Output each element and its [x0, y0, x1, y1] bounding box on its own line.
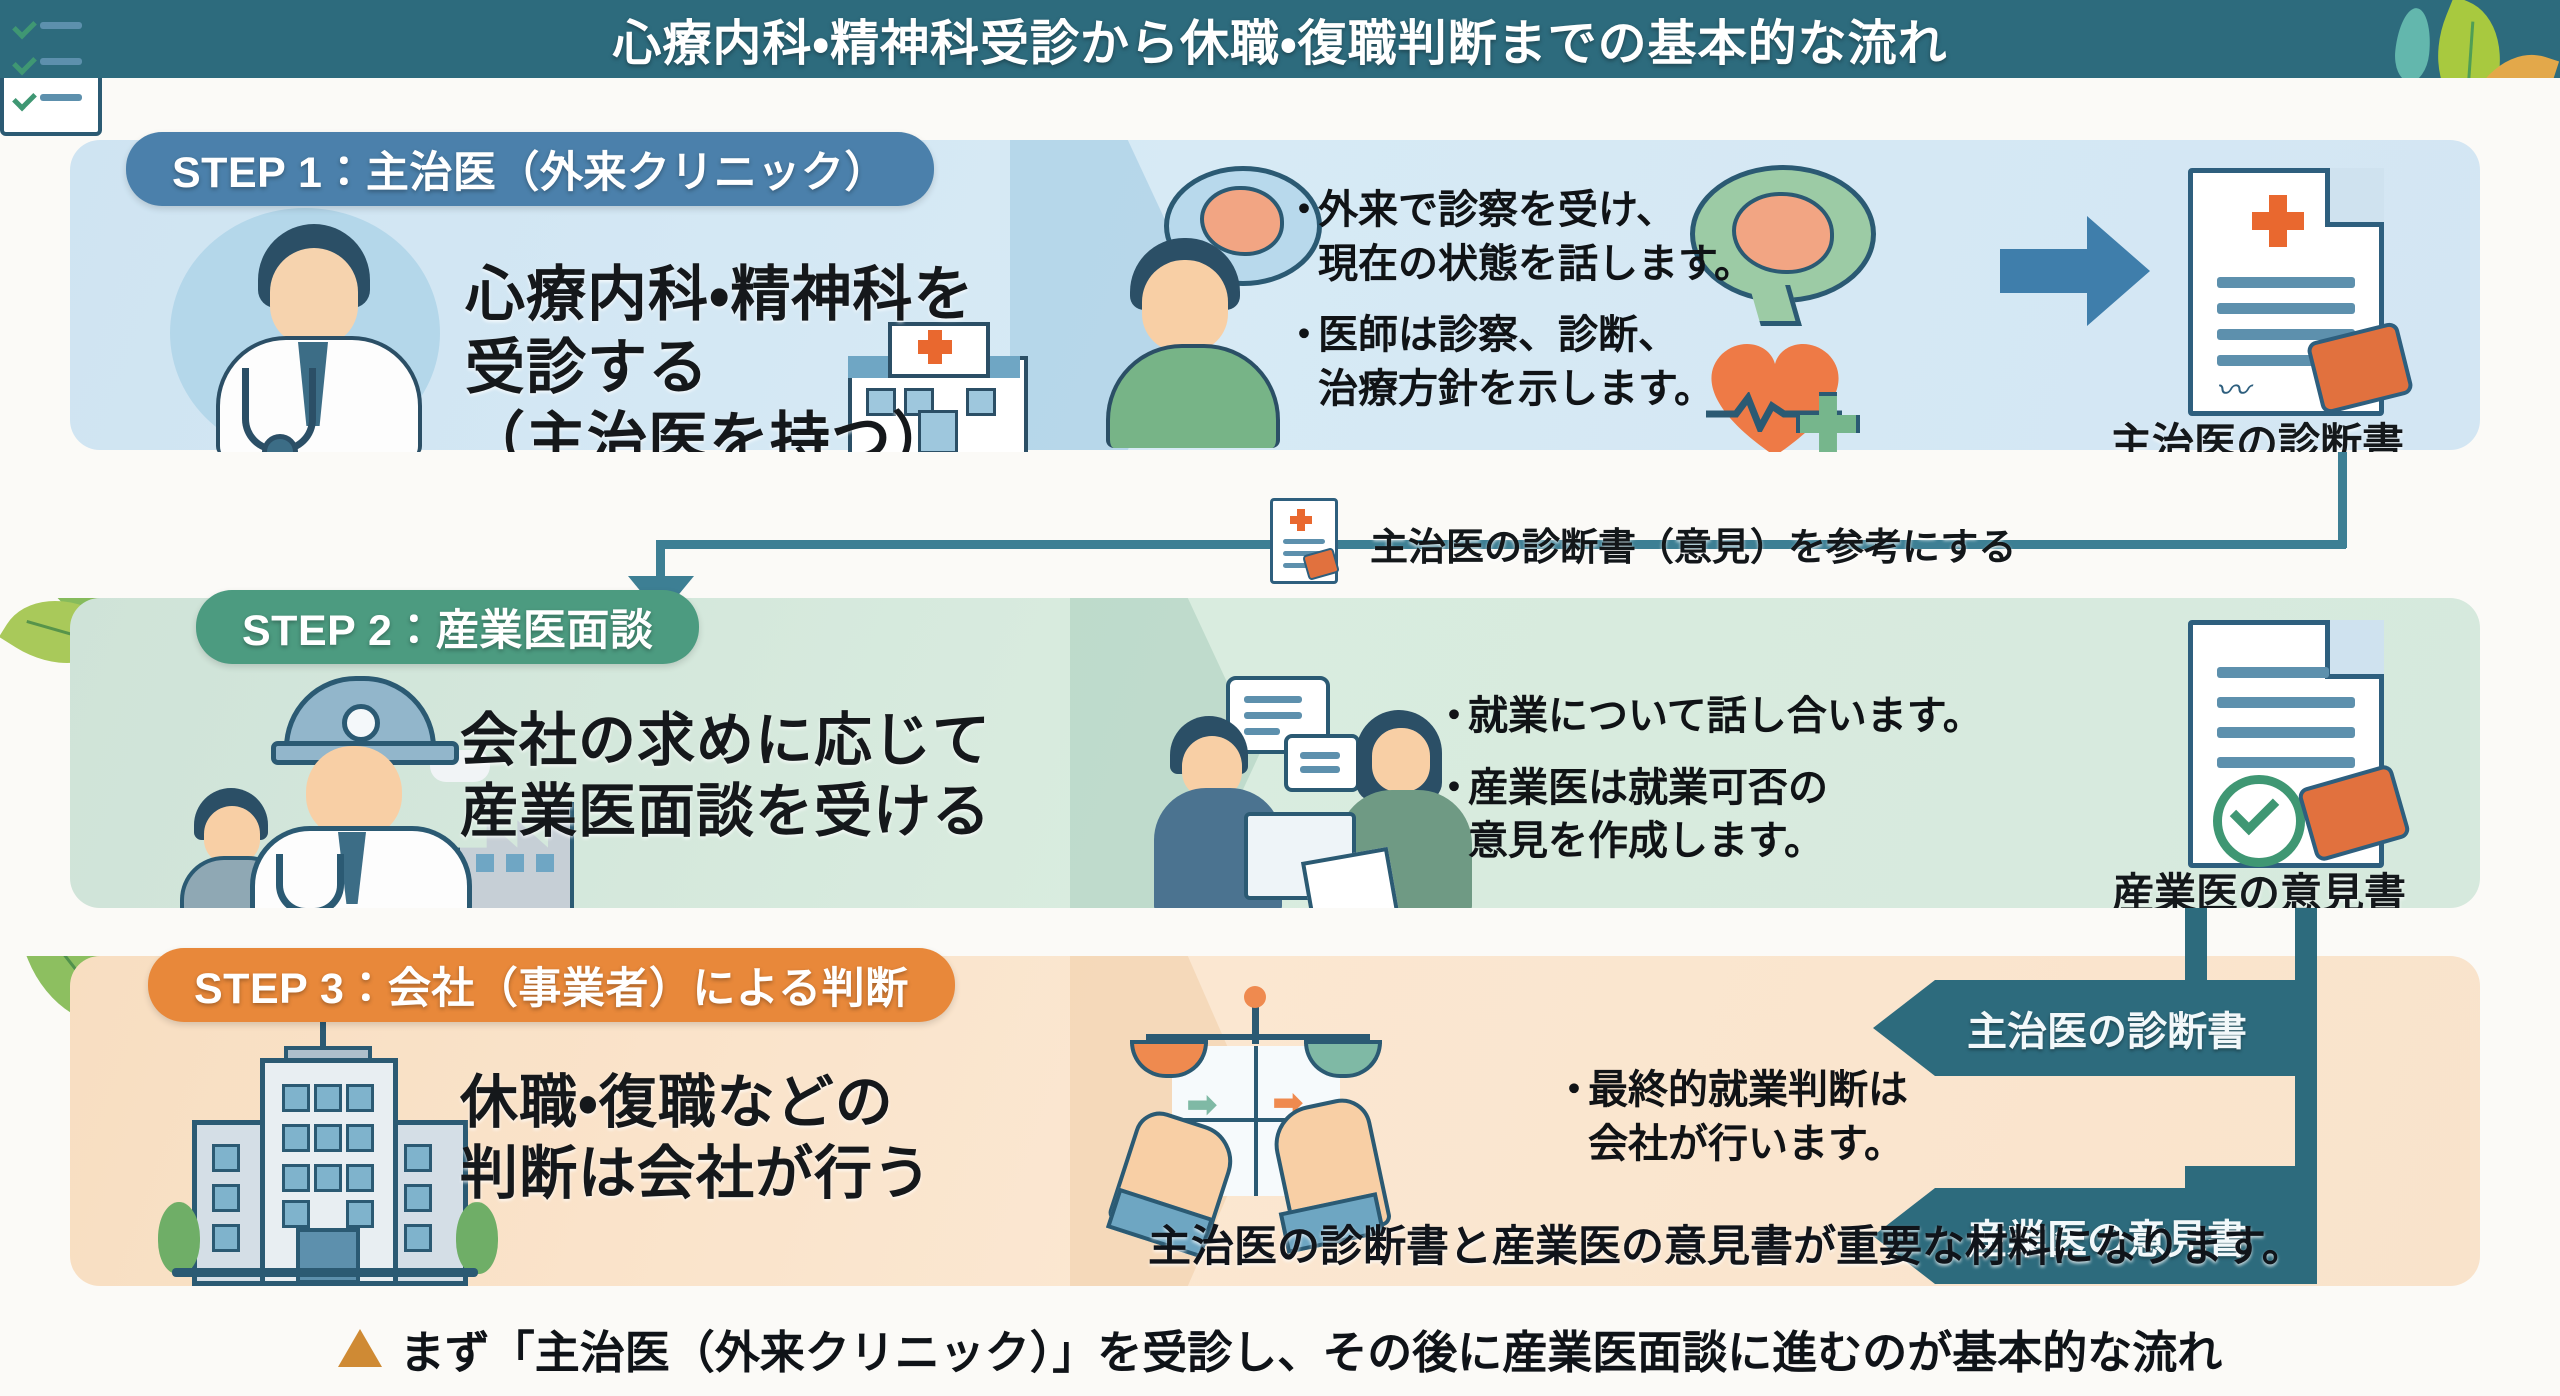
step-2-headline: 会社の求めに応じて 産業医面談を受ける — [460, 706, 991, 848]
opinion-letter-icon — [2188, 620, 2384, 868]
connector-line-vertical — [2338, 452, 2347, 548]
step-3-bullets: 最終的就業判断は 会社が行います。 — [1560, 1064, 1908, 1189]
step-2-badge: STEP 2：産業医面談 — [196, 590, 699, 664]
step-1-badge: STEP 1：主治医（外来クリニック） — [126, 132, 934, 206]
infographic-stage: 心療内科・精神科受診から休職・復職判断までの基本的な流れ — [0, 0, 2560, 1396]
return-arrow-label: 主治医の診断書 — [1935, 999, 2247, 1057]
list-item: 産業医は就業可否の 意見を作成します。 — [1440, 762, 1983, 869]
medical-certificate-mini-icon — [1270, 498, 1338, 584]
office-building-icon — [168, 1040, 488, 1276]
triangle-up-icon — [338, 1329, 382, 1367]
connector-label: 主治医の診断書（意見）を参考にする — [1370, 516, 2016, 571]
patient-icon — [1100, 238, 1280, 444]
list-item: 就業について話し合います。 — [1440, 690, 1983, 744]
medical-certificate-icon: 〰 — [2188, 168, 2384, 416]
page-title: 心療内科・精神科受診から休職・復職判断までの基本的な流れ — [0, 0, 2560, 78]
footer-text: まず「主治医（外来クリニック）」を受診し、その後に産業医面談に進むのが基本的な流… — [400, 1316, 2223, 1381]
return-connector-stem — [2185, 908, 2207, 984]
step-3-note: 主治医の診断書と産業医の意見書が重要な材料になります。 — [1148, 1212, 2305, 1274]
list-item: 医師は診察、診断、 治療方針を示します。 — [1290, 309, 1754, 416]
doctor-icon — [170, 218, 470, 448]
balance-scale-icon: ➡ ➡ ⬅ ✕ — [1130, 990, 1420, 1230]
step-1-headline: 心療内科・精神科を 受診する （主治医を持つ） — [465, 258, 974, 478]
step-1-bullets: 外来で診察を受け、 現在の状態を話します。 医師は診察、診断、 治療方針を示しま… — [1290, 184, 1754, 434]
return-arrow-certificate: 主治医の診断書 — [1935, 980, 2317, 1076]
footer-note: まず「主治医（外来クリニック）」を受診し、その後に産業医面談に進むのが基本的な流… — [0, 1300, 2560, 1396]
step-3-badge: STEP 3：会社（事業者）による判断 — [148, 948, 955, 1022]
return-connector-stem — [2185, 1166, 2317, 1188]
step-3-headline: 休職・復職などの 判断は会社が行う — [460, 1068, 932, 1210]
step-2-bullets: 就業について話し合います。 産業医は就業可否の 意見を作成します。 — [1440, 690, 1983, 887]
list-item: 最終的就業判断は 会社が行います。 — [1560, 1064, 1908, 1171]
list-item: 外来で診察を受け、 現在の状態を話します。 — [1290, 184, 1754, 291]
header-bar: 心療内科・精神科受診から休職・復職判断までの基本的な流れ — [0, 0, 2560, 78]
